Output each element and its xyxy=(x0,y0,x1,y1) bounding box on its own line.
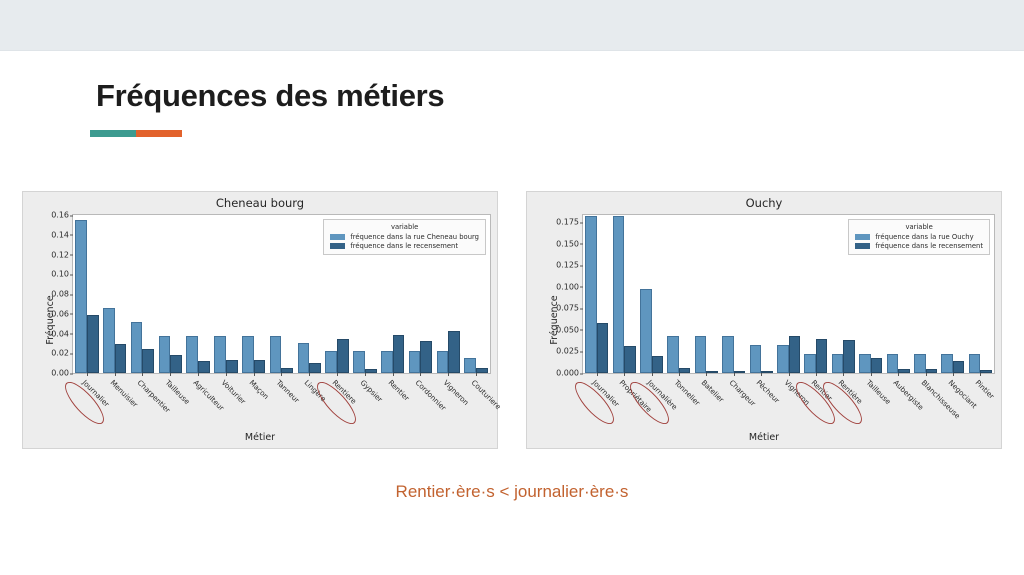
bar xyxy=(832,354,844,373)
bar-group xyxy=(212,215,240,373)
bar xyxy=(409,351,421,373)
bar xyxy=(325,351,337,373)
x-axis-tick: Vigneron xyxy=(434,373,462,419)
bar xyxy=(226,360,238,373)
x-axis-tick: Voiturier xyxy=(212,373,240,419)
bar xyxy=(448,331,460,373)
y-axis-tick-label: 0.025 xyxy=(556,347,579,356)
bar xyxy=(953,361,965,373)
bar-group xyxy=(638,215,665,373)
legend-item: fréquence dans le recensement xyxy=(855,242,983,250)
bar xyxy=(393,335,405,374)
tick-mark xyxy=(652,373,653,376)
tick-mark xyxy=(597,373,598,376)
x-axis-tick: Chargeur xyxy=(720,373,747,419)
tick-mark xyxy=(198,373,199,376)
page-title: Fréquences des métiers xyxy=(96,78,444,114)
x-axis-tick: Journalier xyxy=(583,373,610,419)
x-axis-tick: Blanchisseuse xyxy=(912,373,939,419)
tick-mark xyxy=(679,373,680,376)
y-axis-tick-label: 0.14 xyxy=(51,230,69,239)
bar-group xyxy=(240,215,268,373)
bar xyxy=(254,360,266,373)
bar xyxy=(298,343,310,373)
bar xyxy=(585,216,597,373)
bar-group xyxy=(295,215,323,373)
tick-mark xyxy=(226,373,227,376)
bar xyxy=(613,216,625,373)
bar xyxy=(969,354,981,373)
y-axis-tick-label: 0.04 xyxy=(51,329,69,338)
bar xyxy=(624,346,636,373)
bar-group xyxy=(802,215,829,373)
bar xyxy=(131,322,143,373)
bar xyxy=(871,358,883,374)
legend-item: fréquence dans la rue Ouchy xyxy=(855,233,983,241)
y-axis-tick-label: 0.08 xyxy=(51,290,69,299)
bar xyxy=(804,354,816,373)
bar-group xyxy=(693,215,720,373)
x-axis-tick: Rentier xyxy=(379,373,407,419)
chart-panel-ouchy: Ouchy Fréquence Métier 0.0000.0250.0500.… xyxy=(526,191,1002,449)
x-axis-tick: Vigneron xyxy=(775,373,802,419)
bar xyxy=(437,351,449,373)
bar xyxy=(214,336,226,373)
chart-x-axis-label: Métier xyxy=(23,432,497,443)
plot-area: 0.000.020.040.060.080.100.120.140.16 Jou… xyxy=(72,214,491,374)
legend-swatch-icon xyxy=(855,234,870,240)
bar-group xyxy=(720,215,747,373)
x-axis-tick: Journalier xyxy=(73,373,101,419)
bar xyxy=(722,336,734,373)
bar xyxy=(381,351,393,373)
x-axis-tick: Lingère xyxy=(295,373,323,419)
tick-mark xyxy=(365,373,366,376)
legend-swatch-icon xyxy=(330,243,345,249)
y-axis-tick-label: 0.100 xyxy=(556,282,579,291)
x-axis-tick: Cordonnier xyxy=(407,373,435,419)
x-axis-tick: Tailleuse xyxy=(857,373,884,419)
bar-group xyxy=(73,215,101,373)
x-axis-tick: Couturiere xyxy=(462,373,490,419)
x-axis-tick: Gypsier xyxy=(351,373,379,419)
bar xyxy=(159,336,171,373)
bar xyxy=(142,349,154,373)
slide-top-band xyxy=(0,0,1024,51)
tick-mark xyxy=(761,373,762,376)
bar-group xyxy=(156,215,184,373)
bar xyxy=(198,361,210,373)
legend-swatch-icon xyxy=(330,234,345,240)
tick-mark xyxy=(281,373,282,376)
tick-mark xyxy=(624,373,625,376)
bar xyxy=(652,356,664,373)
bar-group xyxy=(610,215,637,373)
bar xyxy=(640,289,652,373)
x-axis-tick-label: Pintier xyxy=(974,378,997,401)
bar-group xyxy=(101,215,129,373)
chart-y-axis-label: Fréquence xyxy=(549,295,560,344)
x-axis-tick: Agriculteur xyxy=(184,373,212,419)
slide: Fréquences des métiers Cheneau bourg Fré… xyxy=(0,0,1024,575)
bar-group xyxy=(268,215,296,373)
x-axis-tick: Aubergiste xyxy=(884,373,911,419)
y-axis-tick-label: 0.050 xyxy=(556,325,579,334)
tick-mark xyxy=(706,373,707,376)
chart-x-axis-label: Métier xyxy=(527,432,1001,443)
legend-swatch-icon xyxy=(855,243,870,249)
x-axis-tick: Tailleuse xyxy=(156,373,184,419)
bar xyxy=(941,354,953,373)
legend-title: variable xyxy=(330,223,479,231)
bar xyxy=(420,341,432,373)
tick-mark xyxy=(843,373,844,376)
bar xyxy=(816,339,828,373)
bar xyxy=(115,344,127,373)
x-axis-tick: Charpentier xyxy=(129,373,157,419)
tick-mark xyxy=(926,373,927,376)
bar-group xyxy=(665,215,692,373)
chart-legend: variable fréquence dans la rue Cheneau b… xyxy=(323,219,486,255)
bar xyxy=(186,336,198,373)
x-axis-tick: Tanneur xyxy=(268,373,296,419)
x-axis-tick: Journalière xyxy=(638,373,665,419)
bar xyxy=(859,354,871,373)
legend-label: fréquence dans le recensement xyxy=(875,242,983,250)
bar xyxy=(789,336,801,373)
y-axis-tick-label: 0.075 xyxy=(556,304,579,313)
legend-label: fréquence dans le recensement xyxy=(350,242,458,250)
chart-title: Ouchy xyxy=(527,196,1001,210)
plot-area: 0.0000.0250.0500.0750.1000.1250.1500.175… xyxy=(582,214,995,374)
tick-mark xyxy=(476,373,477,376)
bar xyxy=(353,351,365,373)
x-axis-tick: Menuisier xyxy=(101,373,129,419)
x-axis-ticks: JournalierPropriétaireJournalièreTonneli… xyxy=(583,373,994,419)
tick-mark xyxy=(115,373,116,376)
tick-mark xyxy=(337,373,338,376)
chart-legend: variable fréquence dans la rue Ouchy fré… xyxy=(848,219,990,255)
tick-mark xyxy=(789,373,790,376)
legend-item: fréquence dans le recensement xyxy=(330,242,479,250)
y-axis-tick-label: 0.16 xyxy=(51,211,69,220)
bar xyxy=(887,354,899,373)
tick-mark xyxy=(420,373,421,376)
legend-item: fréquence dans la rue Cheneau bourg xyxy=(330,233,479,241)
x-axis-tick: Rentiere xyxy=(323,373,351,419)
bar xyxy=(777,345,789,373)
x-axis-tick: Pêcheur xyxy=(747,373,774,419)
legend-title: variable xyxy=(855,223,983,231)
x-axis-tick: Batelier xyxy=(693,373,720,419)
legend-label: fréquence dans la rue Ouchy xyxy=(875,233,973,241)
accent-segment-orange xyxy=(136,130,182,137)
bar xyxy=(750,345,762,373)
bar xyxy=(270,336,282,373)
bar xyxy=(597,323,609,373)
bar-group xyxy=(583,215,610,373)
bar xyxy=(843,340,855,373)
tick-mark xyxy=(170,373,171,376)
bar-group xyxy=(184,215,212,373)
chart-title: Cheneau bourg xyxy=(23,196,497,210)
bar xyxy=(75,220,87,373)
bar-group xyxy=(129,215,157,373)
tick-mark xyxy=(816,373,817,376)
y-axis-tick-label: 0.125 xyxy=(556,261,579,270)
y-axis-tick-label: 0.10 xyxy=(51,270,69,279)
bar xyxy=(914,354,926,373)
x-axis-tick: Tonnelier xyxy=(665,373,692,419)
legend-label: fréquence dans la rue Cheneau bourg xyxy=(350,233,479,241)
bar-group xyxy=(775,215,802,373)
bar xyxy=(309,363,321,373)
bar xyxy=(170,355,182,373)
bar xyxy=(667,336,679,373)
tick-mark xyxy=(734,373,735,376)
tick-mark xyxy=(142,373,143,376)
tick-mark xyxy=(871,373,872,376)
tick-mark xyxy=(87,373,88,376)
tick-mark xyxy=(898,373,899,376)
x-axis-tick-label: Couturiere xyxy=(470,378,503,411)
x-axis-ticks: JournalierMenuisierCharpentierTailleuseA… xyxy=(73,373,490,419)
bar xyxy=(242,336,254,373)
x-axis-tick: Maçon xyxy=(240,373,268,419)
y-axis-tick-label: 0.00 xyxy=(51,369,69,378)
x-axis-tick: Rentière xyxy=(830,373,857,419)
bar xyxy=(87,315,99,373)
chart-panel-cheneau-bourg: Cheneau bourg Fréquence Métier 0.000.020… xyxy=(22,191,498,449)
tick-mark xyxy=(309,373,310,376)
y-axis-tick-label: 0.02 xyxy=(51,349,69,358)
tick-mark xyxy=(254,373,255,376)
x-axis-tick: Rentier xyxy=(802,373,829,419)
y-axis-tick-label: 0.06 xyxy=(51,309,69,318)
bar xyxy=(337,339,349,373)
y-axis-tick-label: 0.000 xyxy=(556,369,579,378)
tick-mark xyxy=(393,373,394,376)
x-axis-tick: Negociant xyxy=(939,373,966,419)
x-axis-tick: Pintier xyxy=(967,373,994,419)
bar xyxy=(464,358,476,373)
tick-mark xyxy=(980,373,981,376)
slide-caption: Rentier·ère·s < journalier·ère·s xyxy=(0,482,1024,502)
accent-segment-teal xyxy=(90,130,136,137)
y-axis-tick-label: 0.175 xyxy=(556,218,579,227)
x-axis-tick: Propriétaire xyxy=(610,373,637,419)
bar xyxy=(103,308,115,373)
tick-mark xyxy=(953,373,954,376)
bar xyxy=(695,336,707,373)
y-axis-tick-label: 0.150 xyxy=(556,239,579,248)
title-accent-bar xyxy=(90,130,182,137)
y-axis-tick-label: 0.12 xyxy=(51,250,69,259)
tick-mark xyxy=(448,373,449,376)
bar-group xyxy=(747,215,774,373)
